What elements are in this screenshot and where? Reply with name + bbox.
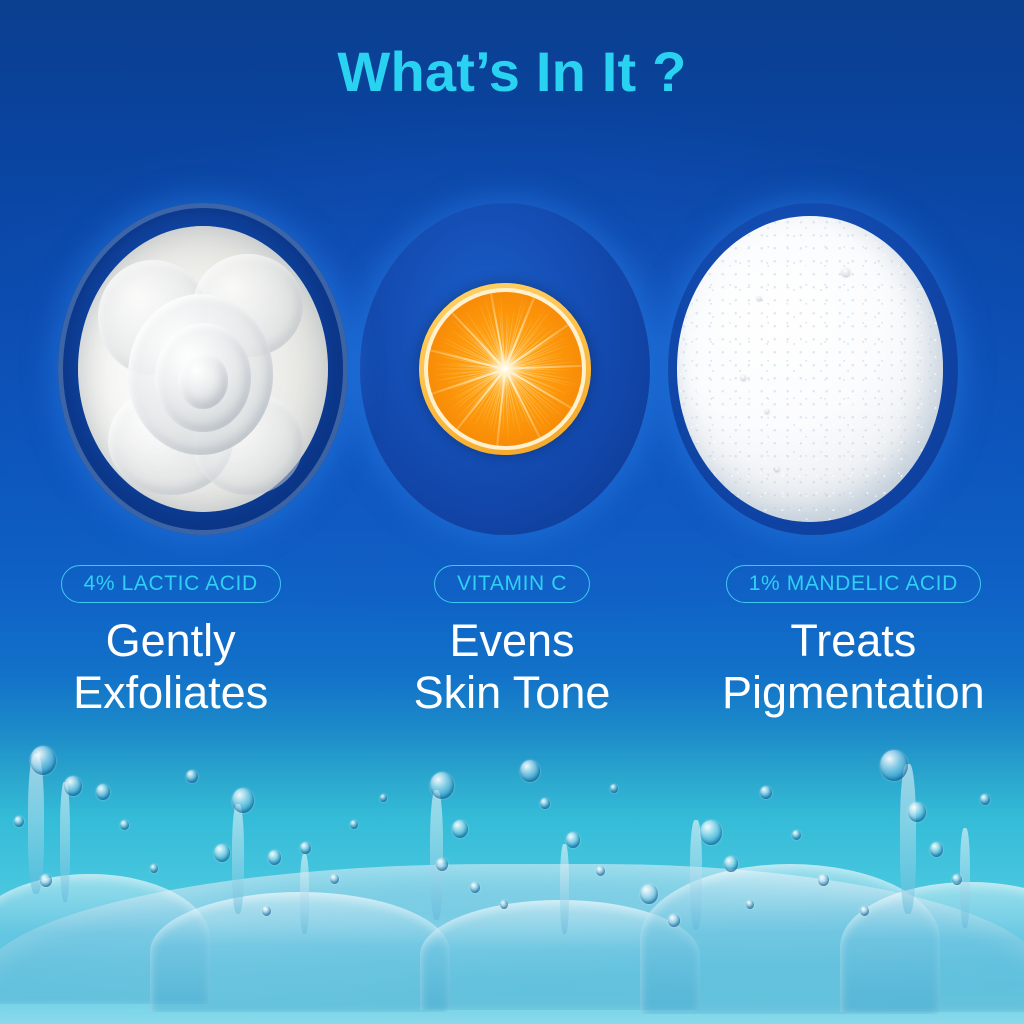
caption-lactic-acid: Gently Exfoliates: [0, 615, 341, 719]
pill-lactic-acid[interactable]: 4% LACTIC ACID: [61, 565, 281, 603]
dish-inner-cream: [73, 220, 334, 519]
caption-mandelic-acid: Treats Pigmentation: [683, 615, 1024, 719]
ingredient-column-1: 4% LACTIC ACID Gently Exfoliates: [0, 565, 341, 719]
pill-vitamin-c[interactable]: VITAMIN C: [434, 565, 590, 603]
dish-vitamin-c: [360, 203, 650, 535]
caption-vitamin-c: Evens Skin Tone: [341, 615, 682, 719]
promo-graphic: What’s In It ?: [0, 0, 1024, 1024]
pill-mandelic-acid[interactable]: 1% MANDELIC ACID: [726, 565, 981, 603]
cream-texture: [78, 226, 329, 513]
dish-mandelic-acid: [668, 203, 958, 535]
ingredient-label-row: 4% LACTIC ACID Gently Exfoliates VITAMIN…: [0, 565, 1024, 719]
ingredient-column-2: VITAMIN C Evens Skin Tone: [341, 565, 682, 719]
page-title: What’s In It ?: [0, 40, 1024, 104]
ingredient-column-3: 1% MANDELIC ACID Treats Pigmentation: [683, 565, 1024, 719]
water-splash-decoration: [0, 724, 1024, 1024]
dish-lactic-acid: [58, 203, 348, 535]
orange-slice-icon: [419, 283, 591, 455]
powder-texture: [677, 216, 944, 521]
ingredient-dish-row: [0, 203, 1024, 535]
